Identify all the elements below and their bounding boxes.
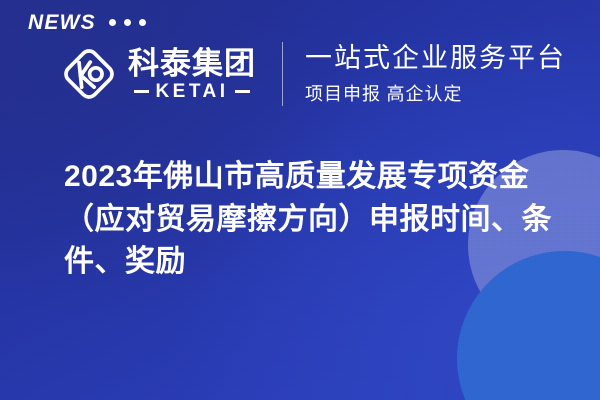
news-banner: NEWS 科泰集团 KETAI: [0, 0, 600, 400]
news-label: NEWS: [28, 12, 96, 33]
logo-latin-row: KETAI: [128, 82, 256, 101]
news-dots-icon: [109, 19, 146, 26]
logo-name-latin: KETAI: [155, 82, 228, 101]
brand-row: 科泰集团 KETAI 一站式企业服务平台 项目申报 高企认定: [58, 42, 566, 106]
tagline-main: 一站式企业服务平台: [305, 42, 566, 74]
logo-name-cn: 科泰集团: [128, 47, 256, 80]
ketai-diamond-logo-icon: [58, 43, 120, 105]
headline: 2023年佛山市高质量发展专项资金（应对贸易摩擦方向）申报时间、条件、奖励: [64, 156, 582, 284]
tagline-sub: 项目申报 高企认定: [305, 80, 566, 106]
logo-rule-left: [134, 90, 149, 93]
logo-rule-right: [235, 90, 250, 93]
logo-wordmark: 科泰集团 KETAI: [128, 47, 256, 100]
brand-divider: [282, 42, 283, 106]
news-eyebrow: NEWS: [28, 12, 146, 33]
tagline-block: 一站式企业服务平台 项目申报 高企认定: [305, 42, 566, 105]
